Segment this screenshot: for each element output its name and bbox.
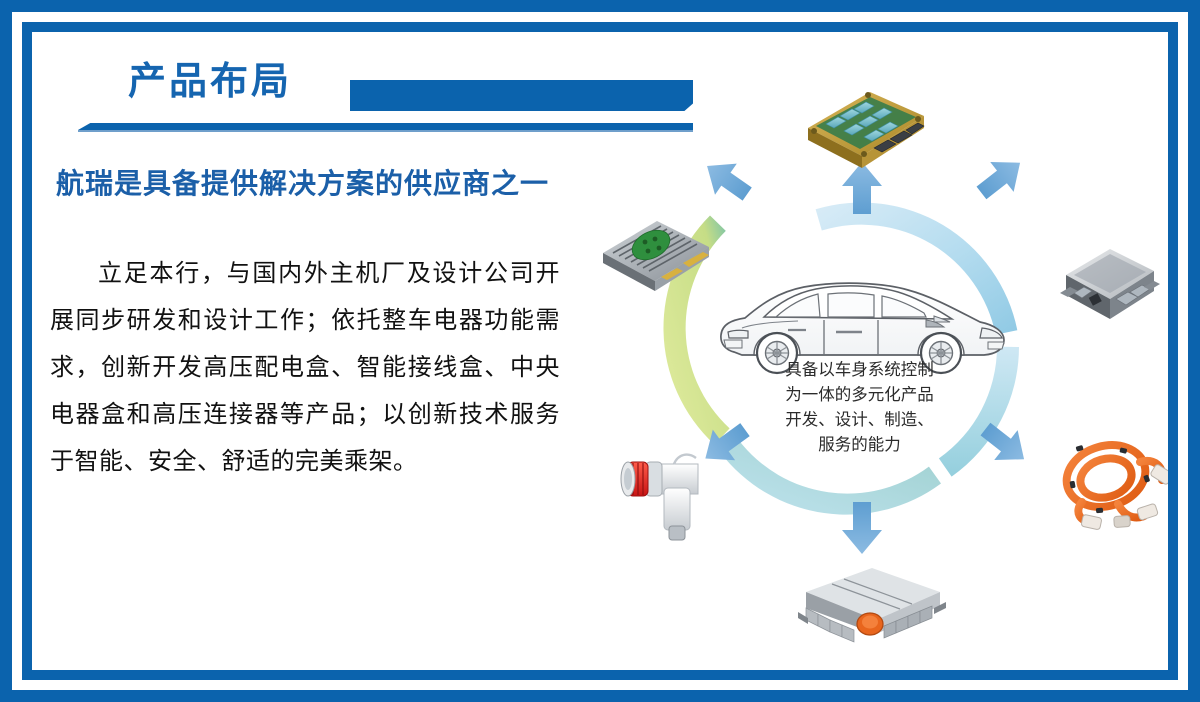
- product-hv-power-distribution-box: [798, 568, 946, 642]
- arrow-upper-right: [970, 148, 1032, 208]
- arrow-upper-left: [696, 150, 758, 209]
- product-layout-diagram: 具备以车身系统控制 为一体的多元化产品 开发、设计、制造、 服务的能力: [532, 32, 1168, 670]
- diagram-center-caption: 具备以车身系统控制 为一体的多元化产品 开发、设计、制造、 服务的能力: [747, 357, 972, 457]
- subtitle: 航瑞是具备提供解决方案的供应商之一: [56, 162, 549, 202]
- product-gray-enclosure-box: [1060, 249, 1160, 319]
- slide-canvas: 产品布局 航瑞是具备提供解决方案的供应商之一 立足本行，与国内外主机厂及设计公司…: [32, 32, 1168, 670]
- product-orange-hv-cable-harness: [1059, 436, 1168, 530]
- page-title: 产品布局: [128, 58, 292, 104]
- body-paragraph: 立足本行，与国内外主机厂及设计公司开展同步研发和设计工作；依托整车电器功能需求，…: [50, 250, 560, 485]
- product-red-white-angle-connector: [621, 455, 698, 540]
- product-relay-junction-board: [808, 92, 924, 168]
- slide-root: 产品布局 航瑞是具备提供解决方案的供应商之一 立足本行，与国内外主机厂及设计公司…: [0, 0, 1200, 702]
